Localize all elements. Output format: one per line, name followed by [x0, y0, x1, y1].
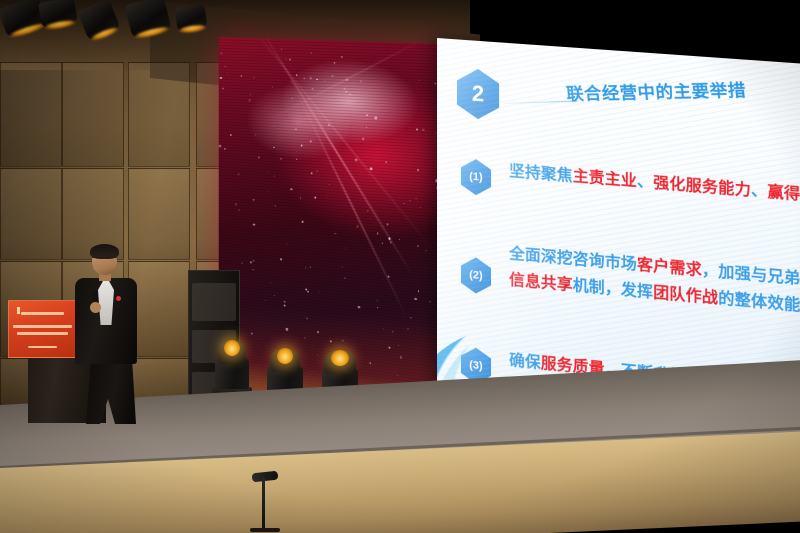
- bullet-keyword-highlight: 赢得客: [767, 183, 800, 204]
- wall-panel: [62, 62, 124, 167]
- presentation-photo-scene: 2 联合经营中的主要举措 (1)坚持聚焦主责主业、强化服务能力、赢得客(2)全面…: [0, 0, 800, 533]
- podium-sign-banner: [8, 300, 77, 358]
- speaker-person: [72, 246, 142, 424]
- wall-panel: [128, 62, 190, 167]
- ceiling-truss-light: [174, 4, 207, 32]
- light-lamp-icon: [224, 340, 240, 356]
- bullet-text-run: 、: [637, 173, 653, 192]
- bullet-text-run: 、: [751, 182, 767, 201]
- wall-panel: [0, 168, 62, 260]
- mic-stand-pole: [262, 478, 265, 530]
- wall-panel: [0, 62, 62, 167]
- lapel-pin-icon: [116, 296, 121, 301]
- bullet-keyword-highlight: 客户需求: [637, 256, 702, 279]
- bullet-text-run: ，加强与兄弟单: [702, 262, 800, 289]
- podium-sign-logo-icon: [17, 307, 20, 314]
- speaker-hand: [90, 302, 101, 313]
- speaker-legs: [86, 358, 136, 424]
- speaker-dress-shirt: [98, 279, 114, 325]
- bullet-keyword-highlight: 强化服务能力: [653, 174, 751, 199]
- glasses-icon: [92, 257, 117, 262]
- ceiling-truss-light: [38, 0, 78, 29]
- mic-stand-base: [250, 528, 280, 532]
- light-lamp-icon: [331, 350, 349, 366]
- bullet-keyword-highlight: 团队作战: [653, 284, 718, 307]
- bullet-text-run: 的整体效能；: [718, 290, 800, 316]
